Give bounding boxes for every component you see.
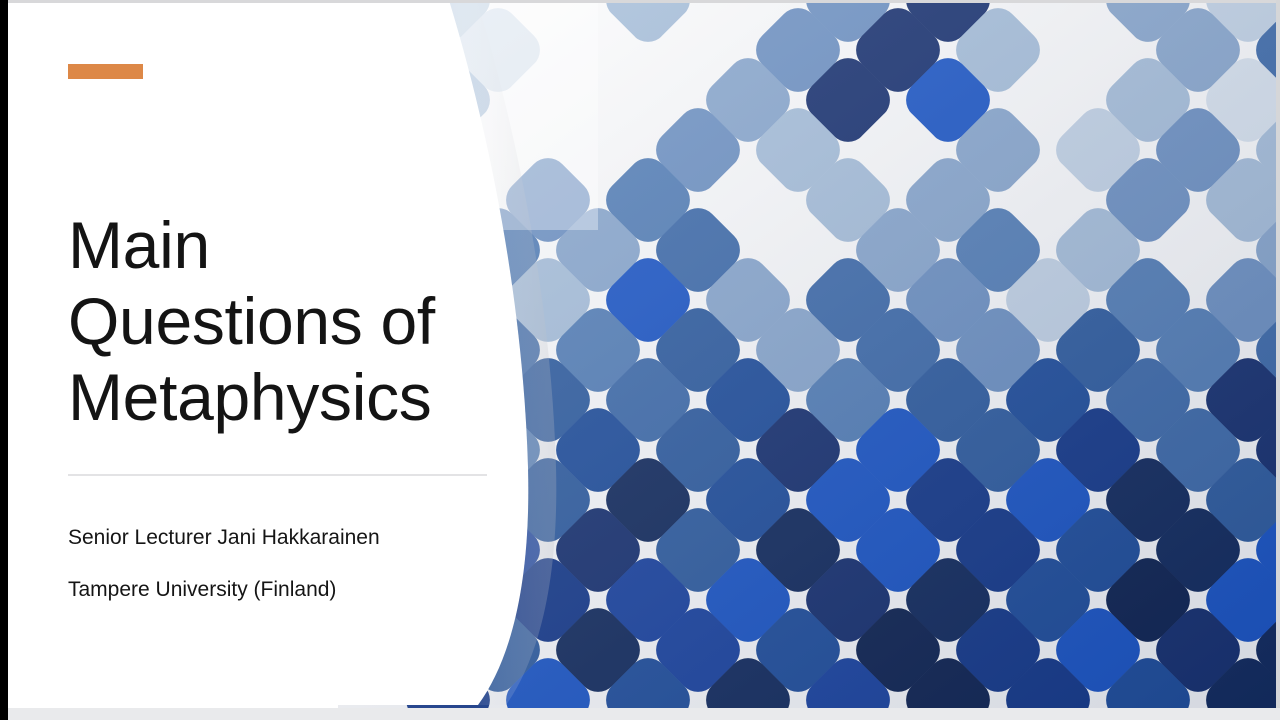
subtitle-line-presenter: Senior Lecturer Jani Hakkarainen (68, 512, 498, 564)
accent-bar (68, 64, 143, 79)
title-divider (68, 474, 487, 476)
player-left-letterbox (0, 0, 8, 720)
video-player-viewport: Main Questions of Metaphysics Senior Lec… (0, 0, 1280, 720)
subtitle-line-affiliation: Tampere University (Finland) (68, 564, 498, 616)
slide-text-block: Main Questions of Metaphysics Senior Lec… (68, 3, 498, 708)
subtitle-group: Senior Lecturer Jani Hakkarainen Tampere… (68, 512, 498, 616)
presentation-slide: Main Questions of Metaphysics Senior Lec… (8, 3, 1276, 708)
player-bottom-edge (8, 708, 1280, 720)
page-title: Main Questions of Metaphysics (68, 207, 498, 435)
player-right-edge (1276, 0, 1280, 720)
player-top-edge (8, 0, 1280, 3)
